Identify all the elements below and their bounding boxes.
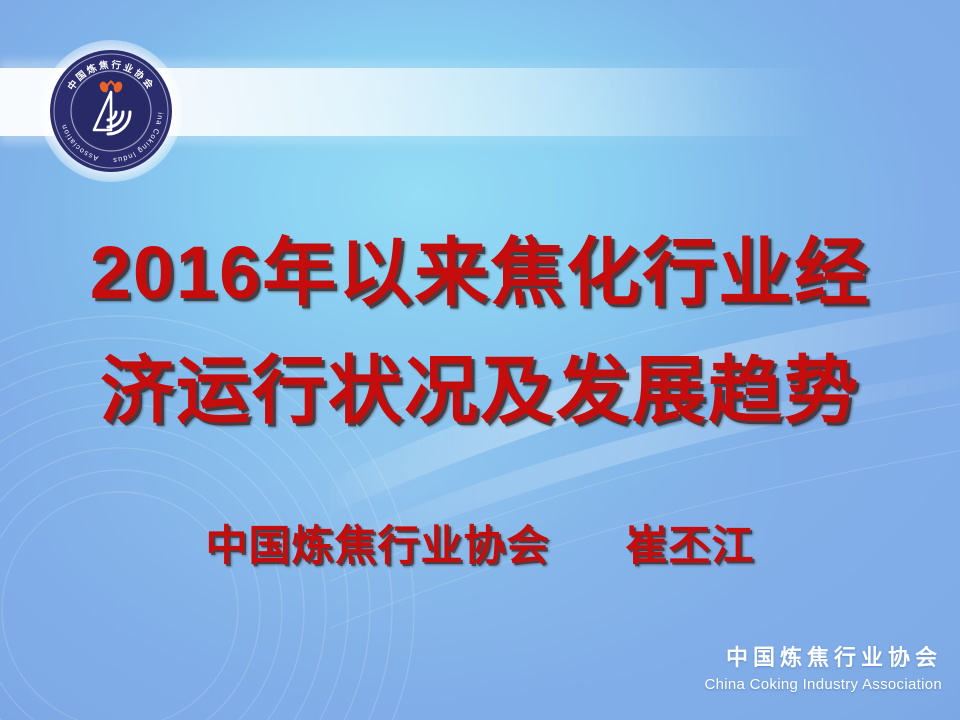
footer-branding: 中国炼焦行业协会 China Coking Industry Associati… [704, 644, 942, 694]
association-logo: 中国炼焦行业协会 China Coking Industry Associati… [48, 48, 174, 174]
footer-name-en: China Coking Industry Association [704, 675, 942, 695]
title-line-1: 2016年以来焦化行业经 [0, 236, 960, 310]
page-title: 2016年以来焦化行业经 济运行状况及发展趋势 [0, 236, 960, 428]
presentation-title-slide: 中国炼焦行业协会 China Coking Industry Associati… [0, 0, 960, 720]
footer-name-cn: 中国炼焦行业协会 [704, 644, 942, 672]
title-line-2: 济运行状况及发展趋势 [0, 354, 960, 428]
presenter-subtitle: 中国炼焦行业协会 崔丕江 [0, 512, 960, 573]
